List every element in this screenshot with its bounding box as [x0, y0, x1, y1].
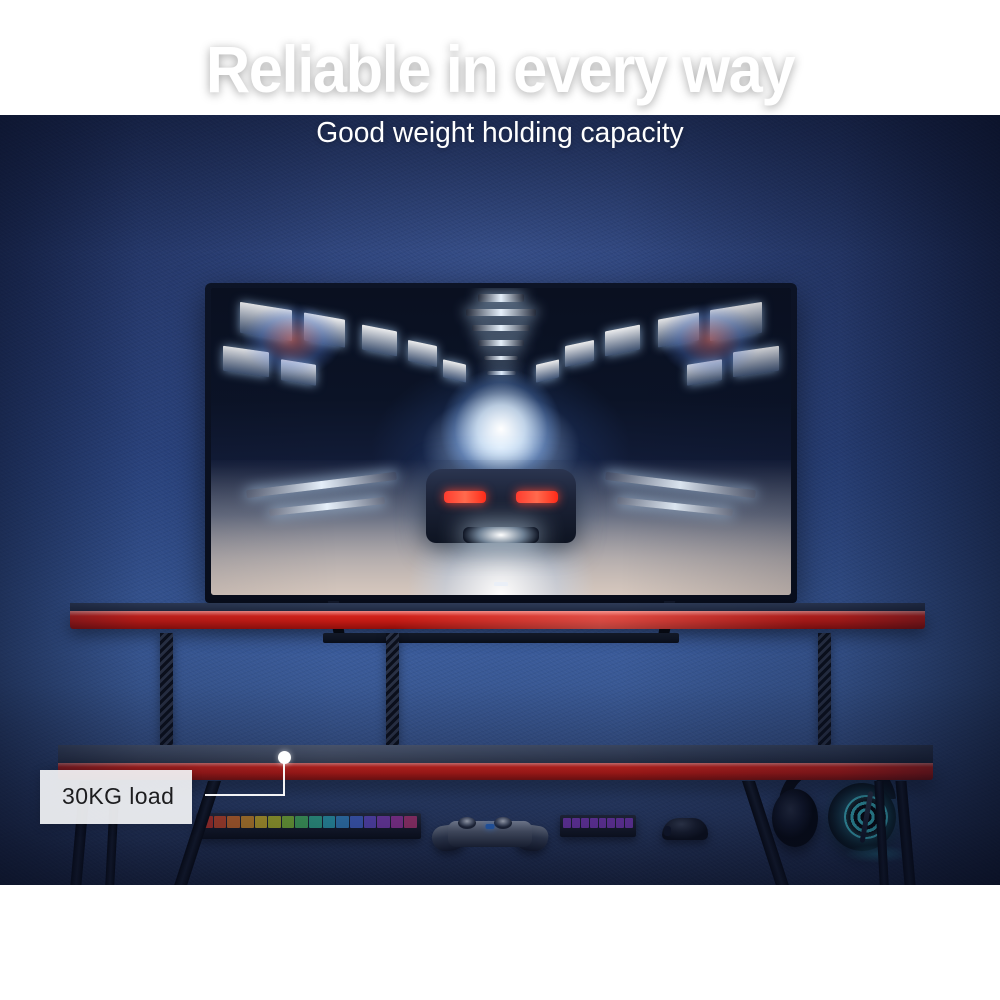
- monitor-foot: [323, 633, 679, 643]
- light-strip: [466, 309, 536, 316]
- product-marketing-image: 30KG load 90KG load Reliable in every wa…: [0, 0, 1000, 1000]
- gaming-monitor: [205, 283, 797, 603]
- monitor-riser-shelf: [70, 603, 925, 633]
- tail-light: [516, 491, 558, 503]
- monitor-screen: [211, 288, 791, 595]
- light-strip: [478, 340, 524, 346]
- shelf-support-left: [160, 633, 173, 751]
- shelf-highlight: [395, 611, 805, 629]
- car-headlight-glow: [463, 527, 539, 543]
- leader-dot: [278, 751, 291, 764]
- game-controller: [432, 815, 548, 851]
- page-subheadline: Good weight holding capacity: [15, 117, 985, 150]
- product-photo: 30KG load 90KG load: [0, 115, 1000, 885]
- light-strip: [478, 294, 524, 302]
- ceiling-reflection: [234, 297, 350, 383]
- leader-line-horizontal: [205, 794, 285, 796]
- ceiling-reflection: [652, 297, 768, 383]
- numeric-keypad: [560, 815, 636, 837]
- controller-light-bar: [486, 824, 495, 829]
- keypad-keys: [563, 818, 633, 828]
- analog-stick-right: [494, 817, 512, 829]
- mouse-side-buttons: [664, 826, 671, 836]
- analog-stick-left: [458, 817, 476, 829]
- shelf-support-middle: [386, 633, 399, 751]
- rgb-mechanical-keyboard: [196, 813, 421, 839]
- tail-light: [444, 491, 486, 503]
- light-strip: [472, 325, 530, 331]
- page-headline: Reliable in every way: [35, 36, 965, 102]
- keyboard-keys: [200, 816, 417, 828]
- callout-label-30kg: 30KG load: [40, 770, 192, 824]
- race-car: [426, 469, 576, 543]
- power-led: [494, 582, 508, 586]
- shelf-support-right: [818, 633, 831, 751]
- light-strip: [484, 356, 519, 361]
- gaming-mouse: [662, 818, 708, 840]
- headset-earcup-left: [772, 789, 818, 847]
